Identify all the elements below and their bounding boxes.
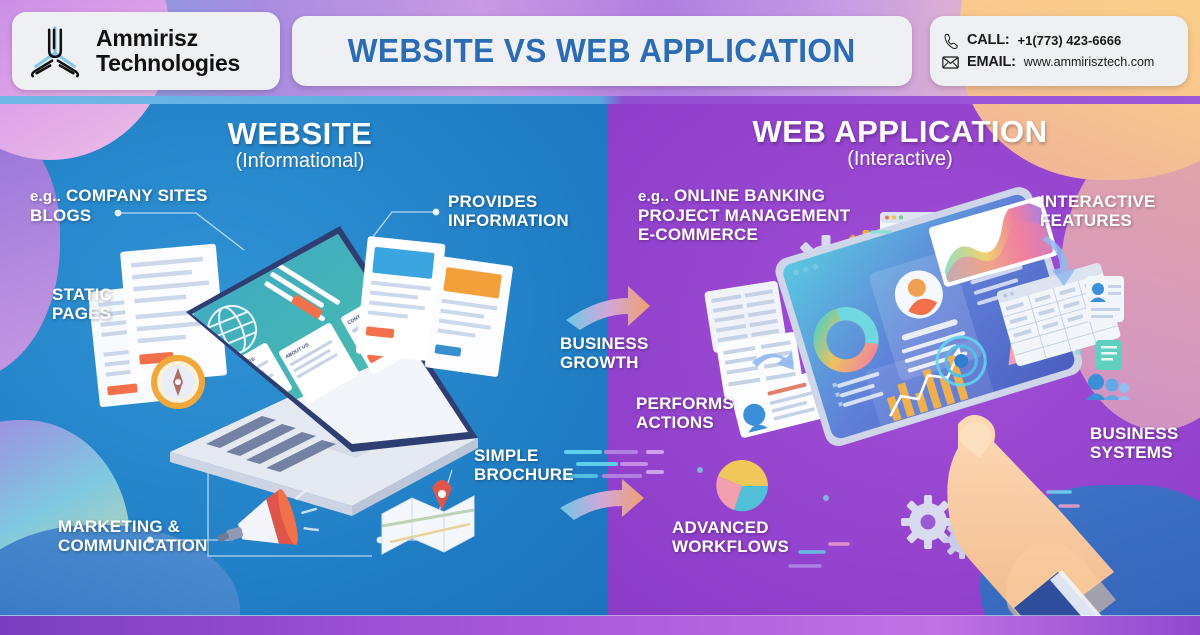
- label-website-examples: e.g.. COMPANY SITES BLOGS: [30, 186, 208, 225]
- webapp-heading: WEB APPLICATION (Interactive): [740, 114, 1060, 171]
- envelope-icon: [942, 55, 959, 70]
- website-subtitle: (Informational): [150, 150, 450, 173]
- call-value: +1(773) 423-6666: [1018, 33, 1122, 48]
- logo-text: Ammirisz Technologies: [96, 26, 240, 76]
- label-marketing-communication: MARKETING & COMMUNICATION: [58, 517, 208, 555]
- label-eg-text-right: ONLINE BANKING PROJECT MANAGEMENT E-COMM…: [638, 186, 850, 244]
- label-provides-information: PROVIDES INFORMATION: [448, 192, 569, 230]
- label-business-systems: BUSINESS SYSTEMS: [1090, 424, 1179, 462]
- webapp-title: WEB APPLICATION: [740, 114, 1060, 150]
- bottom-bar: [0, 616, 1200, 635]
- contact-call-row[interactable]: CALL: +1(773) 423-6666: [942, 32, 1176, 48]
- label-business-growth: BUSINESS GROWTH: [560, 334, 649, 372]
- infographic-canvas: OUR SERVICES ABOUT US CONTACT FORM: [0, 0, 1200, 635]
- email-label: EMAIL:: [967, 54, 1016, 70]
- label-interactive-features: INTERACTIVE FEATURES: [1040, 192, 1156, 230]
- header-divider-line: [0, 96, 1200, 104]
- page-title: WEBSITE VS WEB APPLICATION: [348, 32, 856, 70]
- label-webapp-examples: e.g.. ONLINE BANKING PROJECT MANAGEMENT …: [638, 186, 850, 244]
- ammirisz-logo-icon: [26, 22, 84, 80]
- label-simple-brochure: SIMPLE BROCHURE: [474, 446, 574, 484]
- title-panel: WEBSITE VS WEB APPLICATION: [292, 16, 912, 86]
- webapp-subtitle: (Interactive): [740, 148, 1060, 171]
- contact-email-row[interactable]: EMAIL: www.ammirisztech.com: [942, 54, 1176, 70]
- label-eg-prefix-left: e.g..: [30, 188, 61, 205]
- email-value: www.ammirisztech.com: [1024, 55, 1155, 69]
- label-static-pages: STATIC PAGES: [52, 285, 112, 323]
- call-label: CALL:: [967, 32, 1010, 48]
- website-heading: WEBSITE (Informational): [150, 116, 450, 173]
- website-title: WEBSITE: [150, 116, 450, 152]
- label-advanced-workflows: ADVANCED WORKFLOWS: [672, 518, 789, 556]
- logo-panel[interactable]: Ammirisz Technologies: [12, 12, 280, 90]
- contact-panel: CALL: +1(773) 423-6666 EMAIL: www.ammiri…: [930, 16, 1188, 86]
- label-eg-prefix-right: e.g..: [638, 188, 669, 205]
- phone-icon: [942, 33, 959, 48]
- label-performs-actions: PERFORMS ACTIONS: [636, 394, 734, 432]
